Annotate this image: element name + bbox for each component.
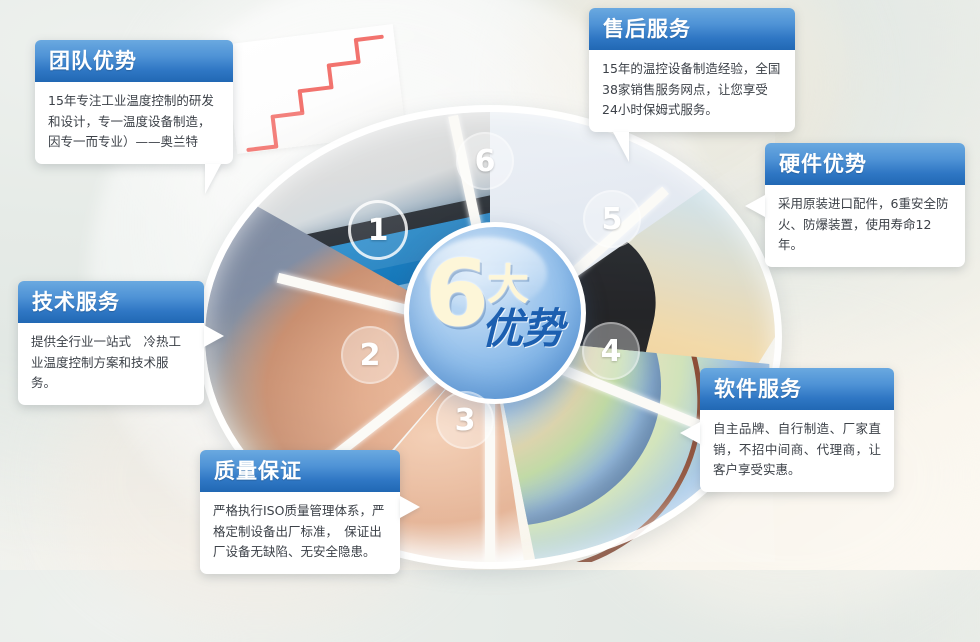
- callout-quality-body: 严格执行ISO质量管理体系，严格定制设备出厂标准， 保证出厂设备无缺陷、无安全隐…: [200, 492, 400, 574]
- callout-software[interactable]: 软件服务 自主品牌、自行制造、厂家直销，不招中间商、代理商，让客户享受实惠。: [700, 368, 894, 492]
- segment-number-6[interactable]: 6: [456, 132, 514, 190]
- callout-hardware[interactable]: 硬件优势 采用原装进口配件，6重安全防火、防爆装置，使用寿命12年。: [765, 143, 965, 267]
- callout-software-title: 软件服务: [700, 368, 894, 410]
- segment-number-4[interactable]: 4: [582, 322, 640, 380]
- callout-after-sales-body: 15年的温控设备制造经验，全国38家销售服务网点，让您享受24小时保姆式服务。: [589, 50, 795, 132]
- callout-technical-tail: [204, 325, 224, 347]
- callout-technical-title: 技术服务: [18, 281, 204, 323]
- callout-hardware-tail: [745, 195, 765, 217]
- callout-quality-tail: [400, 496, 420, 518]
- callout-after-sales-tail: [613, 132, 629, 162]
- callout-after-sales[interactable]: 售后服务 15年的温控设备制造经验，全国38家销售服务网点，让您享受24小时保姆…: [589, 8, 795, 132]
- callout-hardware-body: 采用原装进口配件，6重安全防火、防爆装置，使用寿命12年。: [765, 185, 965, 267]
- callout-hardware-title: 硬件优势: [765, 143, 965, 185]
- segment-number-3[interactable]: 3: [436, 391, 494, 449]
- callout-technical[interactable]: 技术服务 提供全行业一站式 冷热工业温度控制方案和技术服务。: [18, 281, 204, 405]
- callout-team-body: 15年专注工业温度控制的研发和设计，专一温度设备制造，因专一而专业）——奥兰特: [35, 82, 233, 164]
- callout-after-sales-title: 售后服务: [589, 8, 795, 50]
- callout-technical-body: 提供全行业一站式 冷热工业温度控制方案和技术服务。: [18, 323, 204, 405]
- segment-number-5[interactable]: 5: [583, 190, 641, 248]
- callout-team-title: 团队优势: [35, 40, 233, 82]
- center-badge: 6 大 优势: [404, 222, 586, 404]
- callout-software-tail: [680, 422, 700, 444]
- segment-number-1[interactable]: 1: [348, 200, 408, 260]
- callout-software-body: 自主品牌、自行制造、厂家直销，不招中间商、代理商，让客户享受实惠。: [700, 410, 894, 492]
- center-sub-word: 优势: [481, 295, 563, 356]
- segment-number-2[interactable]: 2: [341, 326, 399, 384]
- callout-quality-title: 质量保证: [200, 450, 400, 492]
- infographic-canvas: 6 大 优势 1 2 3 4 5 6 团队优势 15年专注工业温度控制的研发和设…: [0, 0, 980, 570]
- callout-quality[interactable]: 质量保证 严格执行ISO质量管理体系，严格定制设备出厂标准， 保证出厂设备无缺陷…: [200, 450, 400, 574]
- center-number: 6: [425, 253, 489, 336]
- callout-team-tail: [205, 164, 221, 194]
- callout-team[interactable]: 团队优势 15年专注工业温度控制的研发和设计，专一温度设备制造，因专一而专业）—…: [35, 40, 233, 164]
